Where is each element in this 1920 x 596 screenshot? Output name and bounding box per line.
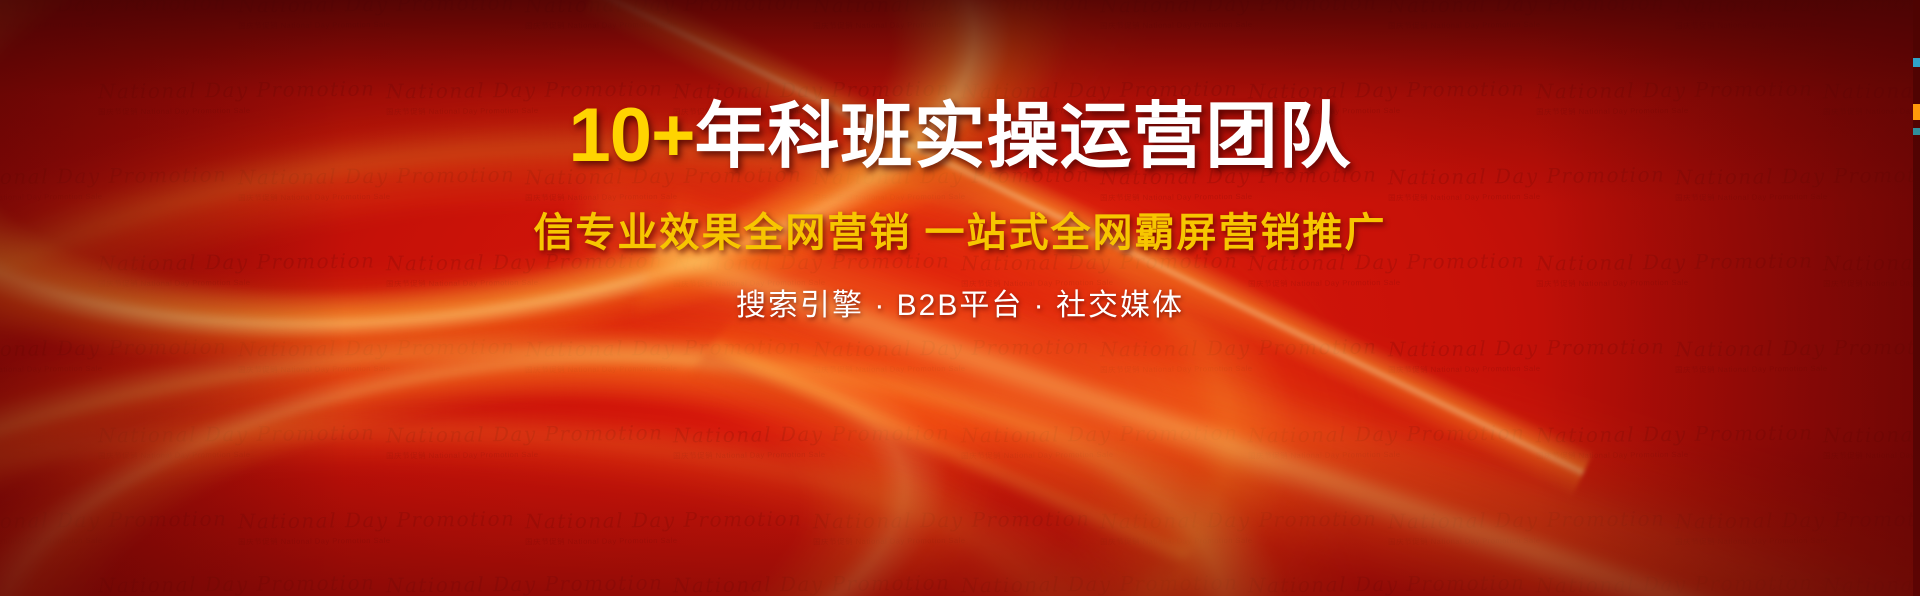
headline-number: 10+ [569, 93, 695, 178]
carousel-indicator-mark-2[interactable] [1913, 104, 1920, 120]
banner-subline: 信专业效果全网营销 一站式全网霸屏营销推广 [533, 200, 1386, 258]
carousel-indicator-mark-3[interactable] [1913, 128, 1920, 135]
promotional-banner: National Day Promotion国庆节促销 National Day… [0, 0, 1920, 596]
carousel-indicator-mark-1[interactable] [1913, 58, 1920, 67]
headline-text: 年科班实操运营团队 [694, 97, 1351, 177]
banner-content: 10+年科班实操运营团队 信专业效果全网营销 一站式全网霸屏营销推广 搜索引擎 … [0, 0, 1920, 596]
carousel-indicator-strip[interactable] [1913, 0, 1920, 596]
banner-headline: 10+年科班实操运营团队 [569, 98, 1352, 174]
banner-tagline: 搜索引擎 · B2B平台 · 社交媒体 [736, 280, 1184, 324]
